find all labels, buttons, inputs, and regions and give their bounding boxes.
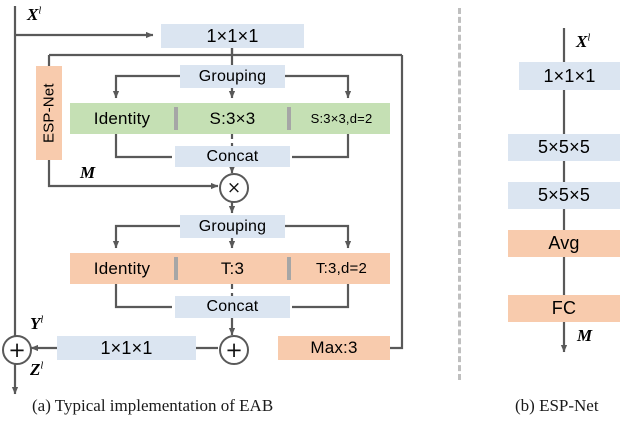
label-mid-y: Yl [30,314,43,334]
figure-canvas: 1×1×1 ESP-Net Grouping Identity S:3×3 S:… [0,0,626,426]
label-output-z: Zl [30,360,43,380]
panelb-block-fc: FC [508,295,620,322]
temporal-branch-identity: Identity [70,253,174,284]
spatial-branch-s33: S:3×3 [180,103,285,134]
panelb-block-avg: Avg [508,230,620,257]
label-input-x: Xl [27,5,41,25]
block-concat-temporal: Concat [175,296,290,318]
spatial-branch-identity: Identity [70,103,174,134]
caption-panel-b: (b) ESP-Net [515,396,599,416]
label-panelb-output-m: M [577,326,592,346]
branch-divider-icon [287,257,291,280]
label-panelb-input-x: Xl [576,32,590,52]
branch-divider-icon [174,257,178,280]
temporal-branch-t3: T:3 [180,253,285,284]
block-grouping-spatial: Grouping [180,65,285,88]
branch-divider-icon [287,107,291,130]
label-mask-m: M [80,163,95,183]
add-operator-output-icon: + [2,335,32,365]
block-tail-conv: 1×1×1 [57,336,196,360]
block-maxpool: Max:3 [278,336,390,360]
panelb-block-conv555-b: 5×5×5 [508,182,620,209]
caption-panel-a: (a) Typical implementation of EAB [32,396,273,416]
block-stem-conv: 1×1×1 [161,24,304,48]
block-concat-spatial: Concat [175,146,290,167]
add-operator-mid-icon: + [219,335,249,365]
branch-divider-icon [174,107,178,130]
block-grouping-temporal: Grouping [180,215,285,238]
panelb-block-conv555-a: 5×5×5 [508,134,620,161]
temporal-branch-t3-d2: T:3,d=2 [293,253,390,284]
temporal-branch-row: Identity T:3 T:3,d=2 [70,253,390,284]
spatial-branch-row: Identity S:3×3 S:3×3,d=2 [70,103,390,134]
panelb-block-conv111: 1×1×1 [519,62,620,90]
panel-divider [458,8,461,380]
multiply-operator-icon: × [219,173,249,203]
block-esp-net: ESP-Net [36,66,62,160]
spatial-branch-s33-d2: S:3×3,d=2 [293,103,390,134]
